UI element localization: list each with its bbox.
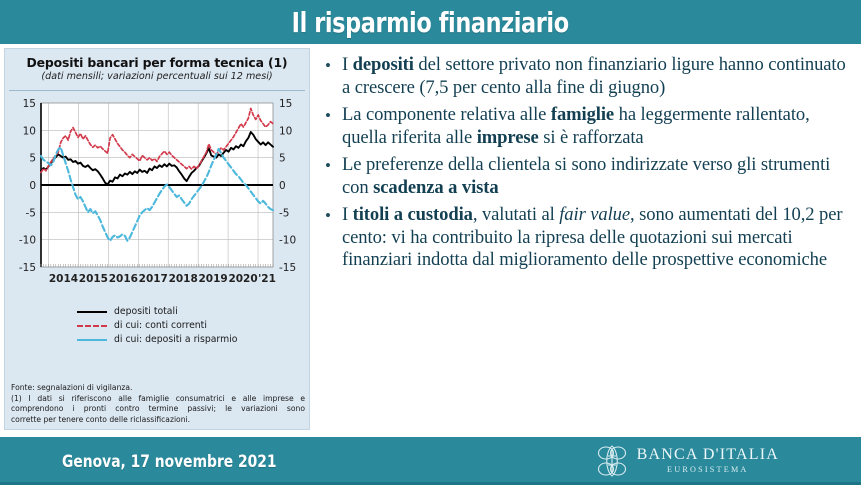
- footnote-line: Fonte: segnalazioni di vigilanza.: [11, 383, 305, 393]
- legend-swatch-depositi-risparmio: [77, 334, 107, 345]
- chart-legend: depositi totali di cui: conti correnti d…: [5, 304, 309, 346]
- svg-text:-15: -15: [19, 262, 36, 274]
- svg-text:-10: -10: [279, 235, 296, 247]
- svg-text:2017: 2017: [139, 273, 168, 285]
- svg-text:-10: -10: [19, 235, 36, 247]
- bullet-text-run: imprese: [477, 127, 539, 148]
- svg-text:-5: -5: [26, 207, 36, 219]
- chart-header: Depositi bancari per forma tecnica (1) (…: [5, 49, 309, 85]
- bullet-text: I titoli a custodia, valutati al fair va…: [342, 204, 851, 272]
- bullet-text-run: La componente relativa alle: [342, 104, 551, 125]
- logo-emblem-icon: [595, 443, 629, 479]
- svg-text:5: 5: [29, 153, 36, 165]
- bullet-text: Le preferenze della clientela si sono in…: [342, 154, 851, 199]
- svg-text:'21: '21: [258, 273, 276, 285]
- chart-subtitle: (dati mensili; variazioni percentuali su…: [11, 71, 303, 82]
- bullet-text-run: depositi: [353, 54, 414, 75]
- footer-date: Genova, 17 novembre 2021: [62, 452, 277, 471]
- legend-label: di cui: depositi a risparmio: [114, 334, 237, 345]
- chart-divider: [9, 90, 305, 91]
- svg-text:15: 15: [279, 98, 292, 110]
- svg-text:2020: 2020: [228, 273, 257, 285]
- bullet-item: •La componente relativa alle famiglie ha…: [314, 104, 851, 149]
- svg-text:10: 10: [23, 125, 36, 137]
- bullet-text: I depositi del settore privato non finan…: [342, 54, 851, 99]
- logo-wordmark: BANCA D'ITALIA EUROSISTEMA: [637, 447, 779, 474]
- svg-text:2019: 2019: [199, 273, 228, 285]
- logo-name: BANCA D'ITALIA: [637, 447, 779, 463]
- bullet-text-run: del settore privato non finanziario ligu…: [342, 54, 846, 98]
- bullet-item: •I titoli a custodia, valutati al fair v…: [314, 204, 851, 272]
- svg-text:2015: 2015: [79, 273, 108, 285]
- chart-plot-area: -15-15-10-10-5-5005510101515201420152016…: [5, 95, 311, 300]
- chart-title-footnote-ref: (1): [268, 55, 288, 70]
- footnote-line: (1) I dati si riferiscono alle famiglie …: [11, 394, 305, 404]
- footnote-line: comprendono i pronti contro termine pass…: [11, 404, 305, 414]
- chart-title-main: Depositi bancari per forma tecnica: [27, 55, 264, 70]
- bullet-text-run: si è rafforzata: [539, 127, 644, 148]
- chart-title: Depositi bancari per forma tecnica (1): [11, 55, 303, 70]
- page-title: Il risparmio finanziario: [292, 6, 569, 39]
- slide-footer: Genova, 17 novembre 2021 BANCA D'ITALIA …: [0, 437, 861, 485]
- svg-text:-15: -15: [279, 262, 296, 274]
- bullet-text-run: titoli a custodia: [353, 204, 473, 225]
- banca-ditalia-logo: BANCA D'ITALIA EUROSISTEMA: [595, 443, 779, 479]
- chart-panel: Depositi bancari per forma tecnica (1) (…: [4, 48, 310, 430]
- bullet-marker-icon: •: [314, 204, 342, 272]
- bullet-text-run: fair value: [559, 204, 630, 225]
- bullet-item: •Le preferenze della clientela si sono i…: [314, 154, 851, 199]
- footnote-body: (1) I dati si riferiscono alle famiglie …: [11, 394, 305, 425]
- line-chart-svg: -15-15-10-10-5-5005510101515201420152016…: [5, 95, 311, 300]
- bullet-text-run: famiglie: [551, 104, 614, 125]
- slide-title-bar: Il risparmio finanziario: [0, 0, 861, 44]
- logo-subtitle: EUROSISTEMA: [637, 466, 779, 474]
- legend-item: di cui: conti correnti: [77, 318, 309, 332]
- bullet-text-run: I: [342, 54, 353, 75]
- bullet-marker-icon: •: [314, 54, 342, 99]
- bullet-text-run: I: [342, 204, 353, 225]
- bullet-marker-icon: •: [314, 104, 342, 149]
- chart-footnote: Fonte: segnalazioni di vigilanza. (1) I …: [11, 383, 305, 425]
- legend-item: di cui: depositi a risparmio: [77, 332, 309, 346]
- svg-text:15: 15: [23, 98, 36, 110]
- bullet-item: •I depositi del settore privato non fina…: [314, 54, 851, 99]
- bullet-list: •I depositi del settore privato non fina…: [314, 54, 857, 430]
- svg-text:5: 5: [279, 153, 286, 165]
- svg-text:-5: -5: [279, 207, 289, 219]
- svg-text:10: 10: [279, 125, 292, 137]
- svg-text:0: 0: [279, 180, 286, 192]
- footnote-line: corrette per tenere conto delle riclassi…: [11, 415, 305, 425]
- legend-item: depositi totali: [77, 304, 309, 318]
- svg-text:2016: 2016: [109, 273, 138, 285]
- bullet-marker-icon: •: [314, 154, 342, 199]
- svg-text:0: 0: [29, 180, 36, 192]
- slide: Il risparmio finanziario Depositi bancar…: [0, 0, 861, 485]
- legend-swatch-conti-correnti: [77, 320, 107, 331]
- svg-text:2018: 2018: [169, 273, 198, 285]
- legend-label: depositi totali: [114, 306, 178, 317]
- legend-swatch-depositi-totali: [77, 306, 107, 317]
- svg-text:2014: 2014: [49, 273, 78, 285]
- bullet-text-run: , valutati al: [473, 204, 559, 225]
- bullet-text-run: scadenza a vista: [373, 177, 498, 198]
- legend-label: di cui: conti correnti: [114, 320, 207, 331]
- bullet-text: La componente relativa alle famiglie ha …: [342, 104, 851, 149]
